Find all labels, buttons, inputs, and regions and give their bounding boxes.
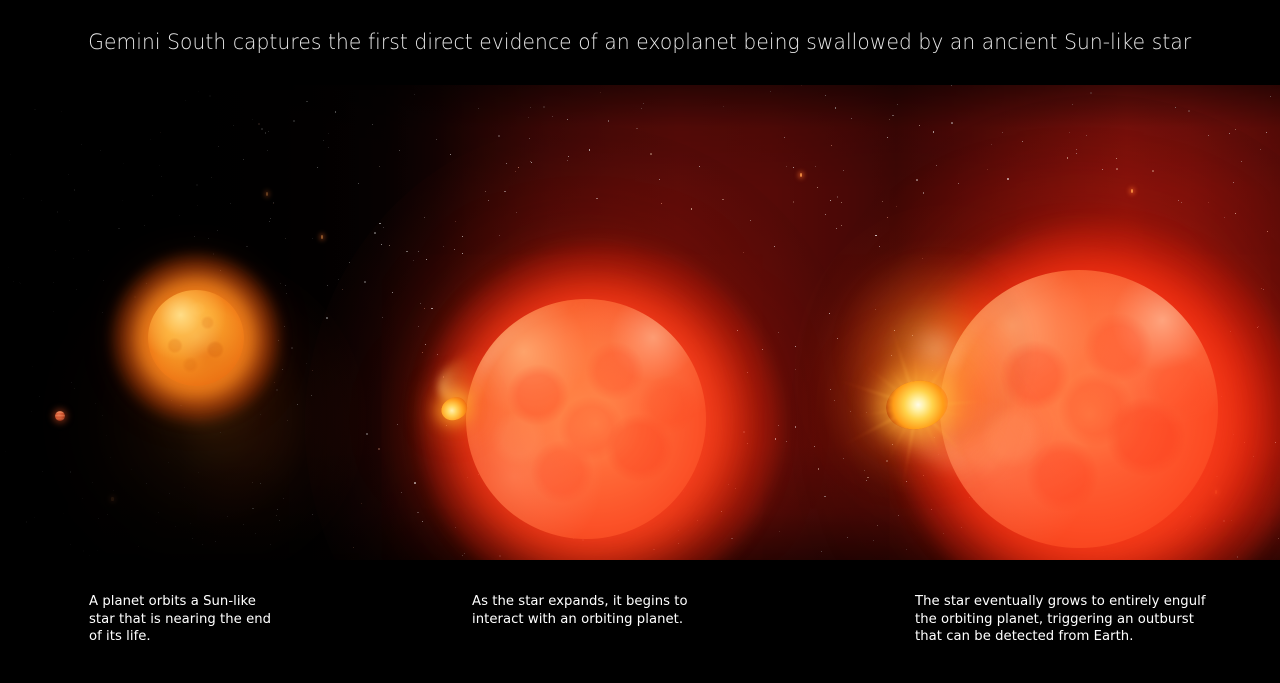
illustration-scene [0, 85, 1280, 560]
expanding-red-giant [466, 299, 706, 539]
caption-bar: A planet orbits a Sun-like star that is … [0, 560, 1280, 683]
orbiting-planet [55, 411, 65, 421]
caption-panel-2: As the star expands, it begins to intera… [472, 593, 732, 628]
sun-like-star [148, 290, 244, 386]
caption-panel-1: A planet orbits a Sun-like star that is … [89, 593, 319, 646]
star-surface-granulation [148, 290, 244, 386]
caption-panel-3: The star eventually grows to entirely en… [915, 593, 1235, 646]
page-title: Gemini South captures the first direct e… [88, 30, 1191, 55]
infographic-stage: Gemini South captures the first direct e… [0, 0, 1280, 683]
title-bar: Gemini South captures the first direct e… [0, 0, 1280, 85]
star-surface-granulation [466, 299, 706, 539]
